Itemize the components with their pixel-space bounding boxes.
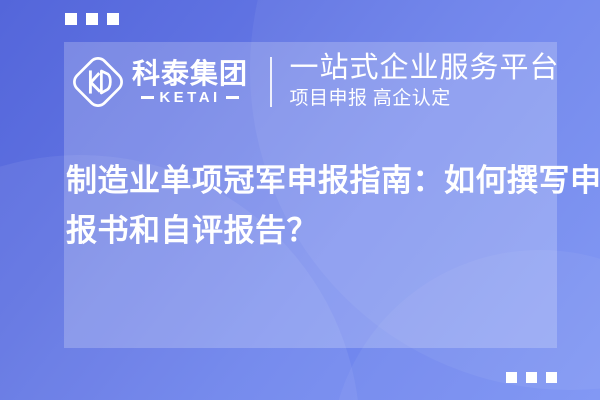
square-dot-icon bbox=[546, 372, 557, 383]
square-dot-icon bbox=[526, 372, 537, 383]
brand-name-en-row: KETAI bbox=[141, 90, 238, 105]
square-dot-icon bbox=[107, 13, 119, 25]
promo-banner: 科泰集团 KETAI 一站式企业服务平台 项目申报 高企认定 制造业单项冠军申报… bbox=[0, 0, 600, 400]
tagline-block: 一站式企业服务平台 项目申报 高企认定 bbox=[290, 53, 560, 111]
square-dot-icon bbox=[65, 13, 77, 25]
brand-logo: 科泰集团 KETAI bbox=[64, 55, 248, 109]
ketai-diamond-kd-monogram-icon bbox=[71, 55, 125, 109]
top-left-dots bbox=[65, 13, 119, 25]
tagline-secondary: 项目申报 高企认定 bbox=[290, 87, 560, 111]
brand-name-en: KETAI bbox=[159, 90, 220, 105]
header-divider bbox=[270, 57, 272, 107]
tagline-primary: 一站式企业服务平台 bbox=[290, 53, 560, 84]
brand-wordmark: 科泰集团 KETAI bbox=[132, 59, 248, 105]
square-dot-icon bbox=[506, 372, 517, 383]
bottom-right-dots bbox=[506, 372, 557, 383]
brand-name-cn: 科泰集团 bbox=[132, 59, 248, 88]
square-dot-icon bbox=[86, 13, 98, 25]
banner-header: 科泰集团 KETAI 一站式企业服务平台 项目申报 高企认定 bbox=[64, 44, 584, 120]
headline-title: 制造业单项冠军申报指南：如何撰写申报书和自评报告？ bbox=[66, 156, 600, 256]
rule-left-icon bbox=[141, 96, 154, 99]
rule-right-icon bbox=[226, 96, 239, 99]
